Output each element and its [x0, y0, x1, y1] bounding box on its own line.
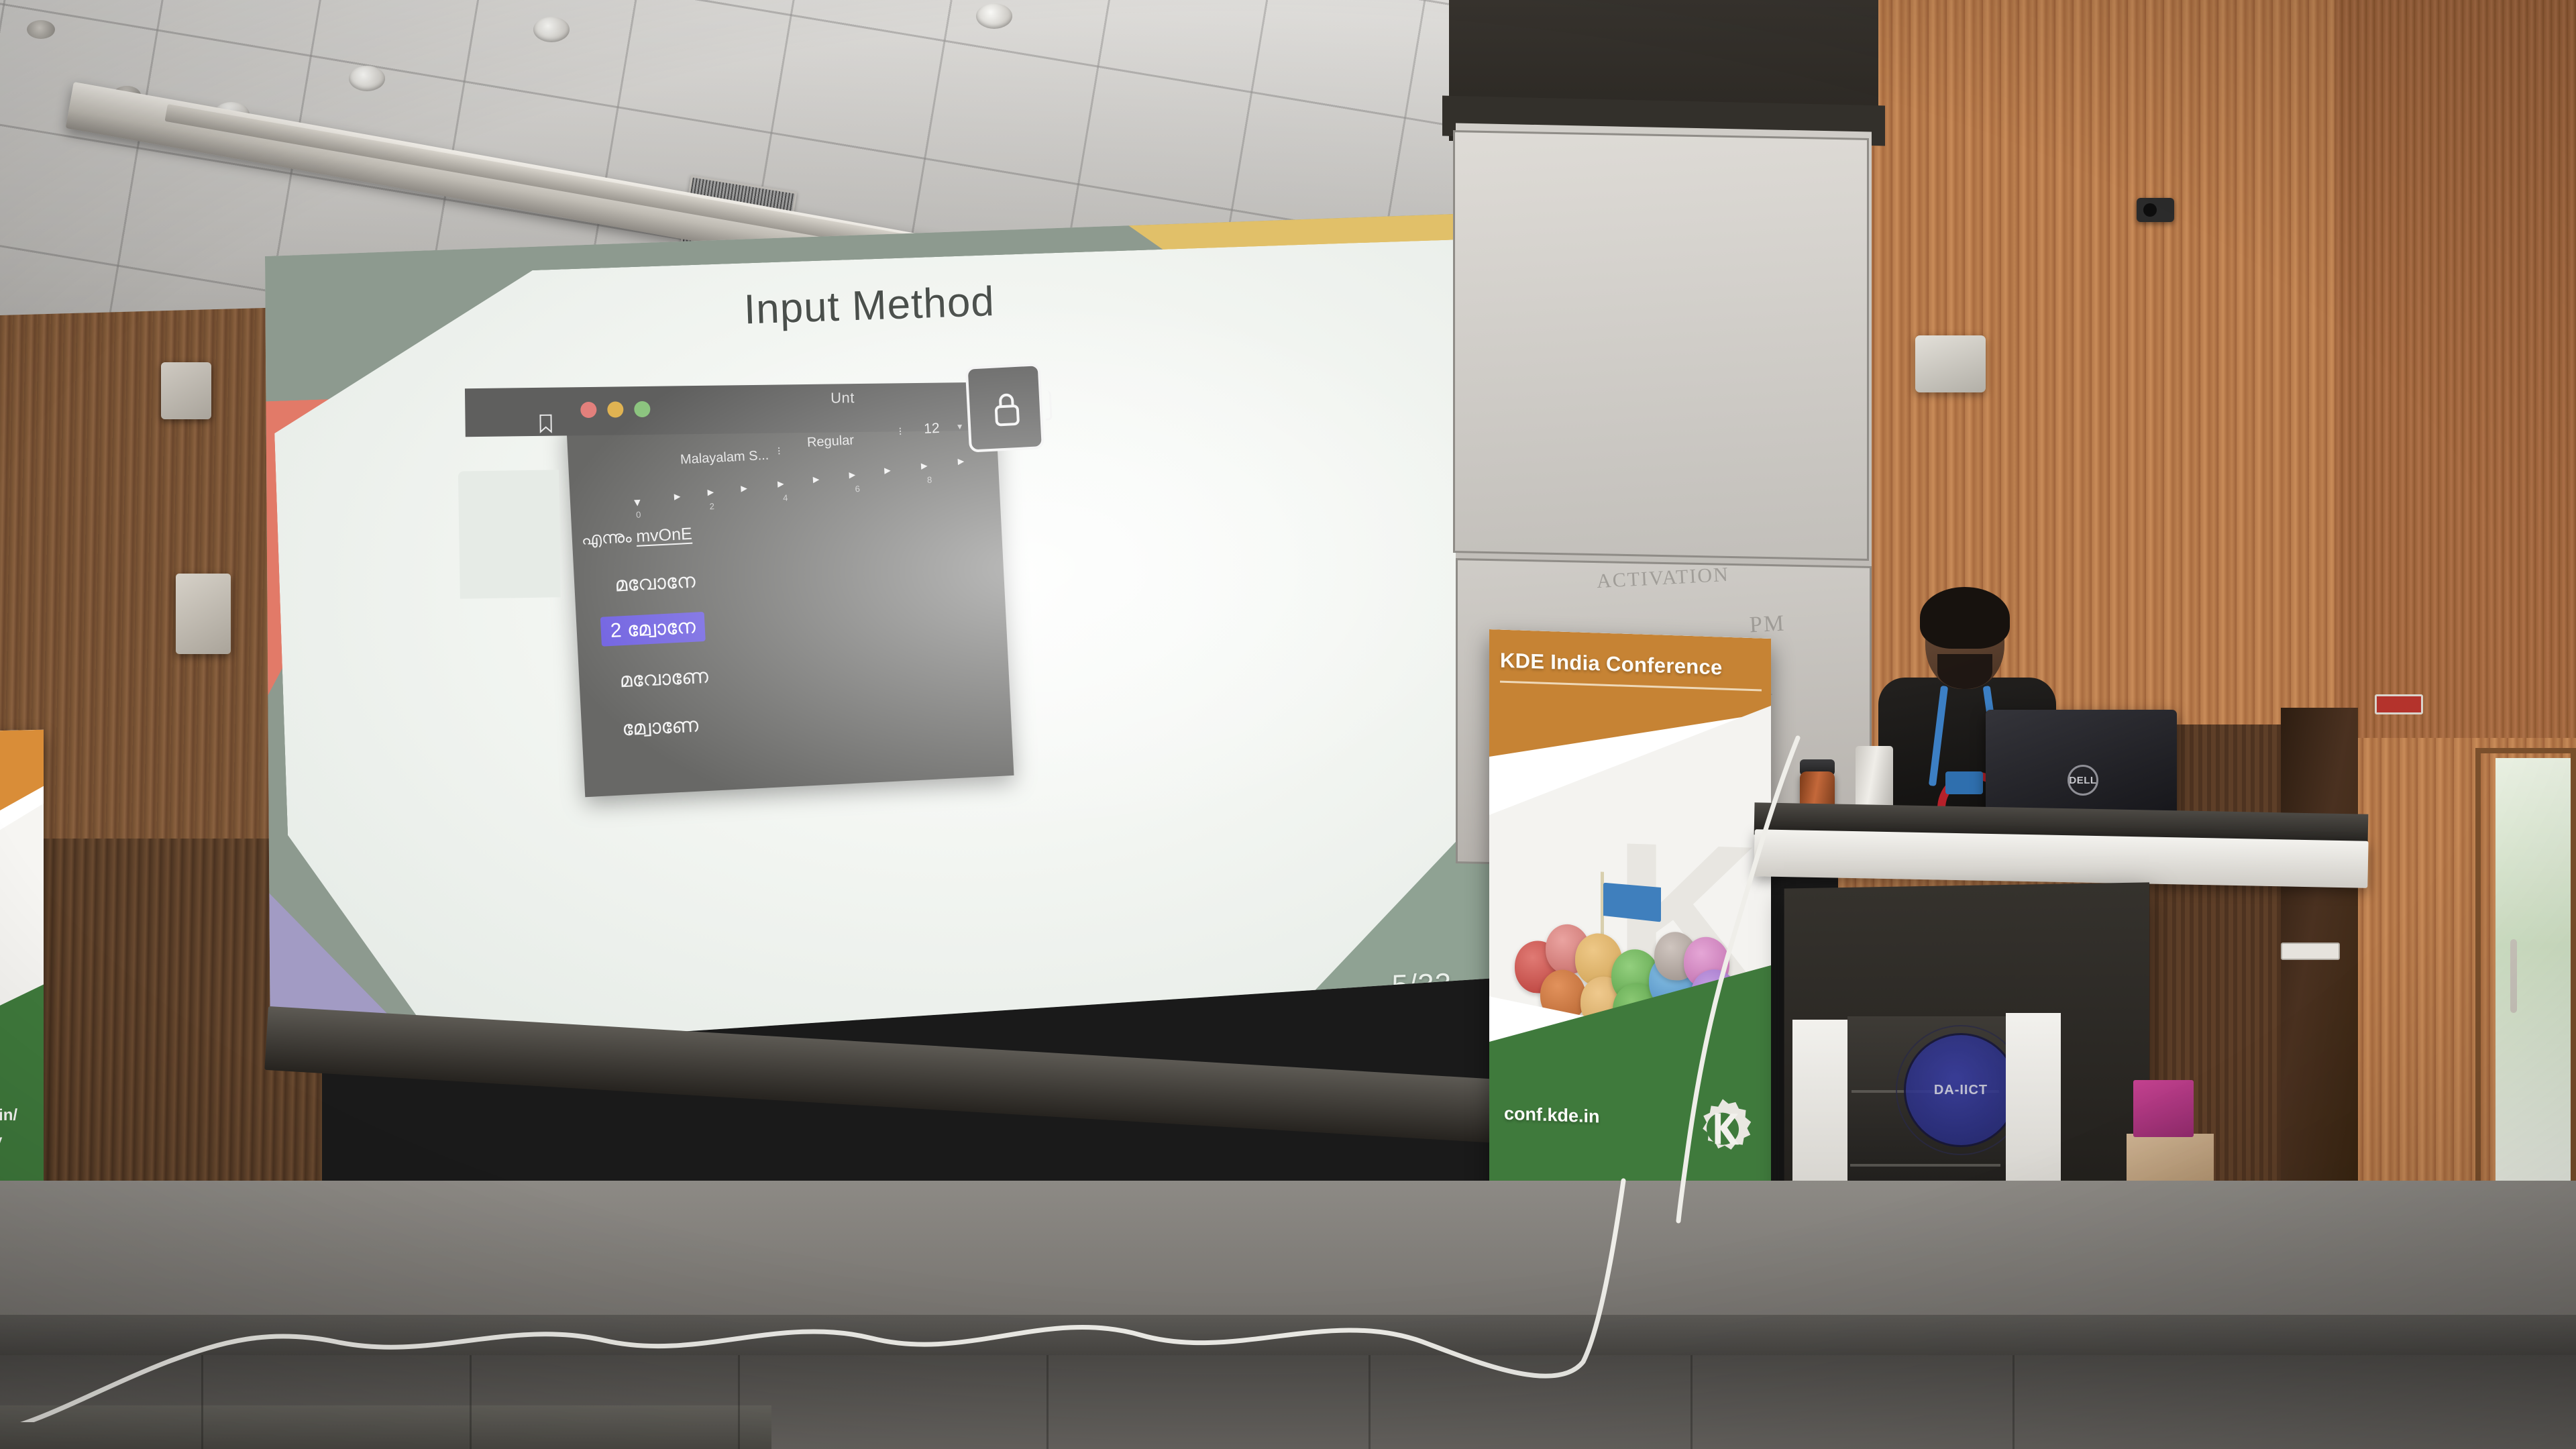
wall-speaker: [176, 574, 231, 654]
projection-screen: Input Method Unt Malayalam S...: [265, 213, 1496, 1059]
bookmark-icon[interactable]: [539, 415, 552, 433]
toolbar-mark-icon[interactable]: ▾: [634, 495, 641, 511]
light-switch-plate[interactable]: [2281, 943, 2340, 960]
ceiling-downlight: [533, 17, 570, 42]
zoom-button[interactable]: [634, 401, 650, 417]
interior-door[interactable]: [2281, 708, 2358, 1251]
preedit-text: എന്നും mvOnE: [581, 525, 692, 549]
toolbar-mark-icon[interactable]: ▸: [741, 480, 748, 496]
right-wood-panel-wall-far: [2334, 0, 2576, 738]
toolbar-mark-icon[interactable]: ▸: [674, 489, 681, 504]
toolbar-mark-icon[interactable]: ▸: [957, 453, 965, 469]
minimize-button[interactable]: [607, 401, 623, 417]
dell-logo: DELL: [2068, 765, 2098, 796]
conference-badge: [1945, 771, 1983, 794]
toolbar-mark-icon[interactable]: ▸: [920, 458, 928, 474]
lock-icon: [991, 390, 1022, 429]
door-handle[interactable]: [2510, 939, 2517, 1013]
institute-emblem: DA-IICT: [1904, 1033, 2018, 1147]
preedit-malayalam: എന്നും: [581, 527, 632, 549]
font-size-stepper[interactable]: ⁝: [898, 425, 902, 439]
window-title: Unt: [830, 389, 855, 407]
app-side-panel: [458, 470, 561, 598]
projection-screen-bottom-bar: [264, 1006, 1493, 1142]
app-titlebar: Unt: [465, 382, 1002, 437]
presentation-slide: Input Method Unt Malayalam S...: [265, 213, 1496, 1059]
smoke-detector-icon: [27, 20, 55, 39]
glass-door-frame[interactable]: [2475, 748, 2576, 1244]
font-style-select[interactable]: Regular: [806, 433, 854, 451]
slide-page-indicator: 5/33: [1391, 967, 1452, 1003]
font-size-field[interactable]: 12: [924, 421, 941, 437]
font-family-stepper[interactable]: ⁝: [777, 445, 781, 458]
whiteboard-scrawl: PM: [1749, 611, 1786, 639]
conference-hall-photo: Input Method Unt Malayalam S...: [0, 0, 2576, 1449]
toolbar-ruler-number: 4: [783, 492, 788, 502]
institute-emblem-text: DA-IICT: [1934, 1083, 1988, 1098]
candidate-item[interactable]: മവോണേ: [610, 661, 718, 696]
pink-box: [2133, 1080, 2194, 1137]
candidate-item[interactable]: മവോനേ: [604, 566, 705, 600]
stage-seam: [2012, 1355, 2015, 1449]
candidate-index: 2: [610, 619, 622, 642]
exit-sign: [2375, 694, 2423, 714]
lock-overlay-button[interactable]: [965, 363, 1044, 453]
wall-speaker: [1915, 335, 1986, 392]
toolbar-ruler-number: 6: [855, 484, 860, 494]
whiteboard-upper: [1453, 130, 1869, 561]
toolbar-mark-icon[interactable]: ▸: [707, 484, 714, 500]
toolbar-ruler-number: 8: [927, 475, 932, 485]
toolbar-mark-icon[interactable]: ▸: [849, 467, 856, 482]
toolbar-mark-icon[interactable]: ▸: [884, 463, 892, 478]
presenter-beard: [1937, 654, 1992, 689]
presenter-hair: [1920, 587, 2010, 649]
toolbar-ruler-number: 2: [709, 501, 714, 511]
candidate-text: മ്വോനേ: [627, 616, 696, 641]
power-cable-banner: [1529, 724, 1811, 1234]
font-family-select[interactable]: Malayalam S...: [680, 448, 769, 468]
ceiling-downlight: [349, 66, 385, 91]
candidate-item-selected[interactable]: 2 മ്വോനേ: [600, 612, 706, 647]
toolbar-mark-icon[interactable]: ▸: [812, 472, 820, 487]
chevron-down-icon[interactable]: ▾: [957, 421, 963, 432]
close-button[interactable]: [580, 402, 596, 418]
ceiling-downlight: [976, 3, 1012, 29]
toolbar-ruler-number: 0: [636, 510, 641, 520]
candidate-item[interactable]: മ്വോണേ: [612, 710, 708, 745]
preedit-latin: mvOnE: [636, 525, 693, 546]
toolbar-mark-icon[interactable]: ▸: [777, 476, 785, 492]
banner-left-url-1: kde.in/: [0, 1106, 17, 1126]
app-window-screenshot: Unt Malayalam S... ⁝ Regular ⁝ 12 ▾: [566, 400, 1014, 798]
security-camera-icon: [2137, 198, 2174, 222]
wall-speaker: [161, 362, 211, 419]
podium-shelf: [1850, 1164, 2000, 1167]
kde-community-banner-left: s n nce kde.in/ unity: [0, 730, 44, 1196]
